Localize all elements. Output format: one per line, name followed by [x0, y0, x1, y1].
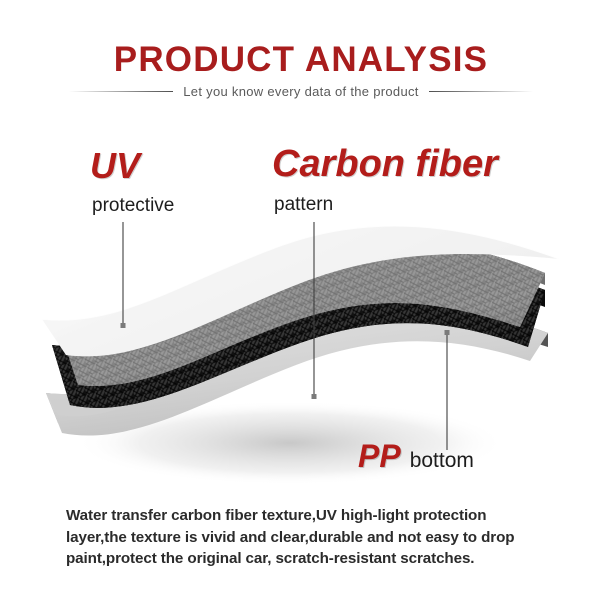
leader-dot-carbon	[312, 394, 317, 399]
product-analysis-infographic: PRODUCT ANALYSIS Let you know every data…	[0, 0, 602, 602]
callout-pp-keyword: PP	[358, 440, 401, 472]
callout-pp-sublabel: bottom	[410, 450, 474, 471]
leader-dot-pp	[445, 330, 450, 335]
callout-carbon: Carbon fiber pattern	[272, 145, 498, 214]
divider-line-right	[429, 91, 533, 92]
description-text: Water transfer carbon fiber texture,UV h…	[66, 505, 544, 570]
subtitle-row: Let you know every data of the product	[0, 84, 602, 99]
callout-carbon-keyword: Carbon fiber	[272, 145, 498, 183]
callout-uv: UV protective	[90, 148, 174, 215]
header: PRODUCT ANALYSIS Let you know every data…	[0, 0, 602, 112]
page-title: PRODUCT ANALYSIS	[0, 40, 602, 80]
callout-uv-sublabel: protective	[92, 196, 174, 215]
callout-carbon-sublabel: pattern	[274, 195, 498, 214]
subtitle-text: Let you know every data of the product	[183, 84, 418, 99]
leader-dot-uv	[121, 323, 126, 328]
layered-material-illustration	[0, 215, 602, 490]
callout-uv-keyword: UV	[90, 148, 174, 184]
divider-line-left	[69, 91, 173, 92]
callout-pp: PP bottom	[358, 440, 474, 472]
